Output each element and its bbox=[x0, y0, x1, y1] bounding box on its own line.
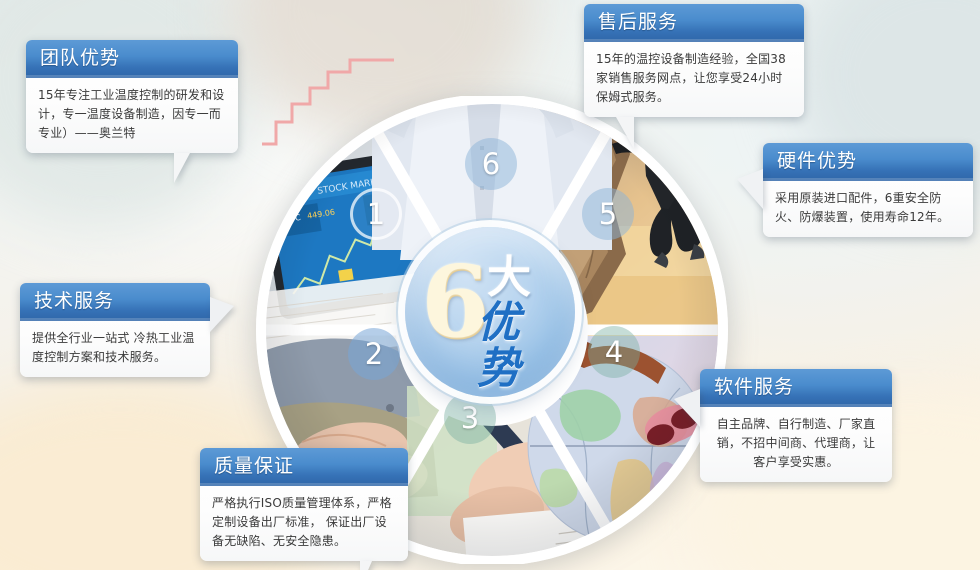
callout-technical-title: 技术服务 bbox=[20, 283, 210, 321]
segment-number-5[interactable]: 5 bbox=[582, 188, 634, 240]
callout-software-service[interactable]: 软件服务 自主品牌、自行制造、厂家直销，不招中间商、代理商，让客户享受实惠。 bbox=[700, 369, 892, 482]
callout-technical-tail bbox=[210, 297, 234, 332]
callout-after-sales-service[interactable]: 售后服务 15年的温控设备制造经验，全国38家销售服务网点，让您享受24小时保姆… bbox=[584, 4, 804, 117]
callout-software-title: 软件服务 bbox=[700, 369, 892, 407]
center-badge: 6 大 优势 bbox=[405, 227, 575, 397]
center-badge-subtext: 优势 bbox=[477, 300, 565, 392]
callout-hardware-advantage[interactable]: 硬件优势 采用原装进口配件，6重安全防火、防爆装置，使用寿命12年。 bbox=[763, 143, 973, 237]
callout-team-advantage[interactable]: 团队优势 15年专注工业温度控制的研发和设计，专一温度设备制造，因专一而专业）—… bbox=[26, 40, 238, 153]
callout-after-sales-tail bbox=[602, 117, 634, 149]
poster-canvas: STOCK MARKET DATA INTC 449.06 bbox=[0, 0, 980, 570]
callout-technical-body: 提供全行业一站式 冷热工业温度控制方案和技术服务。 bbox=[20, 321, 210, 377]
callout-technical-service[interactable]: 技术服务 提供全行业一站式 冷热工业温度控制方案和技术服务。 bbox=[20, 283, 210, 377]
segment-number-3[interactable]: 3 bbox=[444, 392, 496, 444]
center-badge-big-char: 大 bbox=[487, 256, 531, 300]
callout-hardware-body: 采用原装进口配件，6重安全防火、防爆装置，使用寿命12年。 bbox=[763, 181, 973, 237]
callout-quality-tail bbox=[360, 561, 402, 570]
segment-number-1[interactable]: 1 bbox=[350, 188, 402, 240]
segment-number-4[interactable]: 4 bbox=[588, 326, 640, 378]
callout-quality-assurance[interactable]: 质量保证 严格执行ISO质量管理体系，严格定制设备出厂标准， 保证出厂设备无缺陷… bbox=[200, 448, 408, 561]
segment-number-6[interactable]: 6 bbox=[465, 138, 517, 190]
callout-hardware-title: 硬件优势 bbox=[763, 143, 973, 181]
callout-software-tail bbox=[674, 389, 700, 427]
callout-quality-title: 质量保证 bbox=[200, 448, 408, 486]
callout-hardware-tail bbox=[737, 169, 763, 209]
segment-number-2[interactable]: 2 bbox=[348, 328, 400, 380]
callout-team-body: 15年专注工业温度控制的研发和设计，专一温度设备制造，因专一而专业）——奥兰特 bbox=[26, 78, 238, 153]
callout-after-sales-body: 15年的温控设备制造经验，全国38家销售服务网点，让您享受24小时保姆式服务。 bbox=[584, 42, 804, 117]
callout-team-tail bbox=[174, 153, 212, 183]
callout-team-title: 团队优势 bbox=[26, 40, 238, 78]
callout-quality-body: 严格执行ISO质量管理体系，严格定制设备出厂标准， 保证出厂设备无缺陷、无安全隐… bbox=[200, 486, 408, 561]
callout-software-body: 自主品牌、自行制造、厂家直销，不招中间商、代理商，让客户享受实惠。 bbox=[700, 407, 892, 482]
callout-after-sales-title: 售后服务 bbox=[584, 4, 804, 42]
